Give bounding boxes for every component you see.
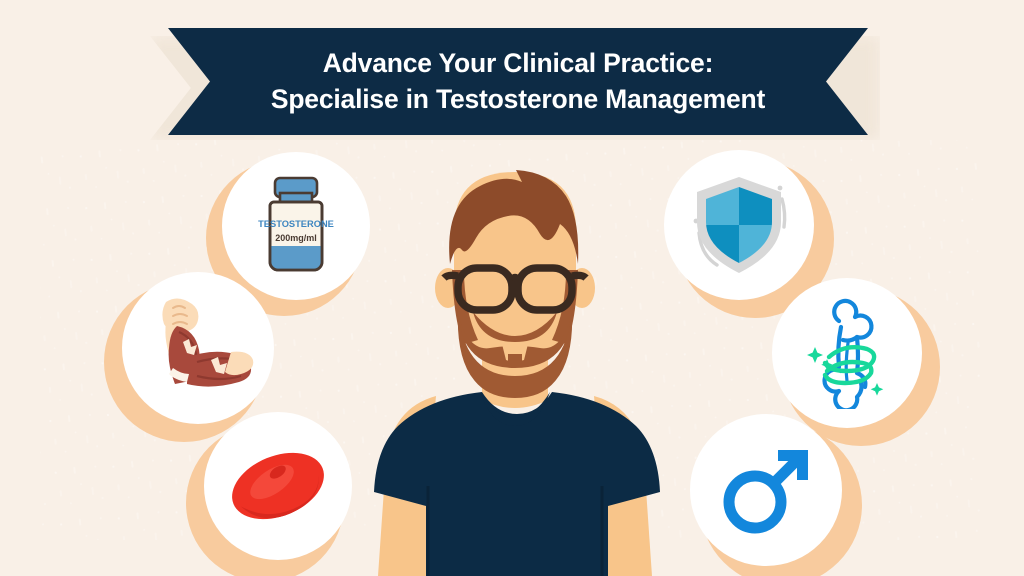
badge-disc	[690, 414, 842, 566]
badge-disc	[772, 278, 922, 428]
vial-label-dose: 200mg/ml	[275, 233, 317, 243]
vial-label-drug: TESTOSTERONE	[258, 219, 334, 229]
male-gender-symbol-icon	[714, 438, 818, 542]
bone-health-icon	[795, 297, 899, 409]
banner: Advance Your Clinical Practice: Speciali…	[168, 28, 868, 135]
banner-title-line-2: Specialise in Testosterone Management	[271, 82, 765, 117]
bearded-man-illustration	[330, 160, 700, 576]
poster-canvas: Advance Your Clinical Practice: Speciali…	[0, 0, 1024, 576]
red-blood-cell-icon	[226, 447, 330, 525]
banner-title-line-1: Advance Your Clinical Practice:	[323, 46, 713, 81]
badge-red-blood-cell[interactable]	[186, 412, 354, 576]
testosterone-vial-icon: TESTOSTERONE 200mg/ml	[250, 174, 342, 278]
badge-male-symbol[interactable]	[690, 414, 862, 576]
badge-disc	[122, 272, 274, 424]
flexed-arm-muscle-icon	[139, 296, 257, 400]
